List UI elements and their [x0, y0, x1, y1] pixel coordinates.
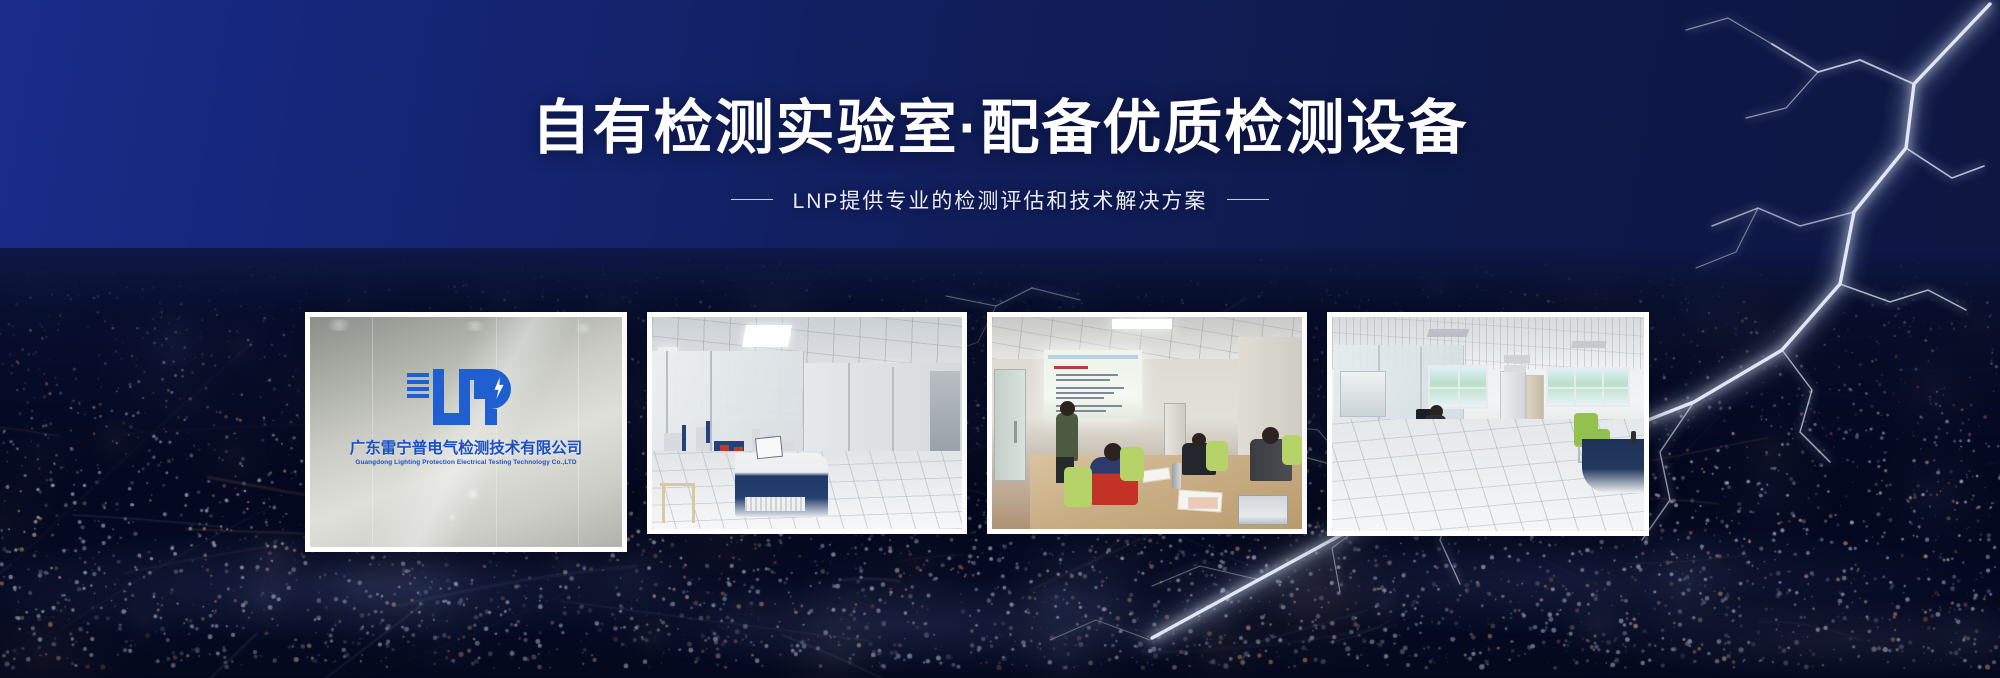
subtitle-text: LNP提供专业的检测评估和技术解决方案 — [793, 185, 1208, 215]
gallery-item-office-area[interactable] — [1327, 312, 1649, 536]
page-title: 自有检测实验室·配备优质检测设备 — [0, 96, 2000, 161]
gallery-item-meeting-room[interactable] — [987, 312, 1307, 534]
laptop-icon — [1238, 495, 1288, 525]
photo-gallery: 广东雷宁普电气检测技术有限公司 Guangdong Lighting Prote… — [305, 312, 1649, 552]
photo-company-sign: 广东雷宁普电气检测技术有限公司 Guangdong Lighting Prote… — [310, 317, 622, 547]
hero-banner: 自有检测实验室·配备优质检测设备 LNP提供专业的检测评估和技术解决方案 — [0, 0, 2000, 678]
page-subtitle: LNP提供专业的检测评估和技术解决方案 — [0, 185, 2000, 215]
lnp-mark-icon — [407, 369, 525, 425]
gallery-item-hv-laboratory[interactable] — [647, 312, 967, 534]
company-name-cn: 广东雷宁普电气检测技术有限公司 — [310, 436, 622, 458]
headline-block: 自有检测实验室·配备优质检测设备 LNP提供专业的检测评估和技术解决方案 — [0, 96, 2000, 215]
photo-office-area — [1332, 317, 1644, 531]
projector-screen — [1044, 350, 1142, 418]
rule-right-icon — [1227, 199, 1269, 200]
photo-hv-laboratory — [652, 317, 962, 529]
photo-meeting-room — [992, 317, 1302, 529]
company-name-en: Guangdong Lighting Protection Electrical… — [310, 459, 622, 466]
company-logo: 广东雷宁普电气检测技术有限公司 Guangdong Lighting Prote… — [310, 369, 622, 466]
gallery-item-company-sign[interactable]: 广东雷宁普电气检测技术有限公司 Guangdong Lighting Prote… — [305, 312, 627, 552]
rule-left-icon — [731, 199, 773, 200]
